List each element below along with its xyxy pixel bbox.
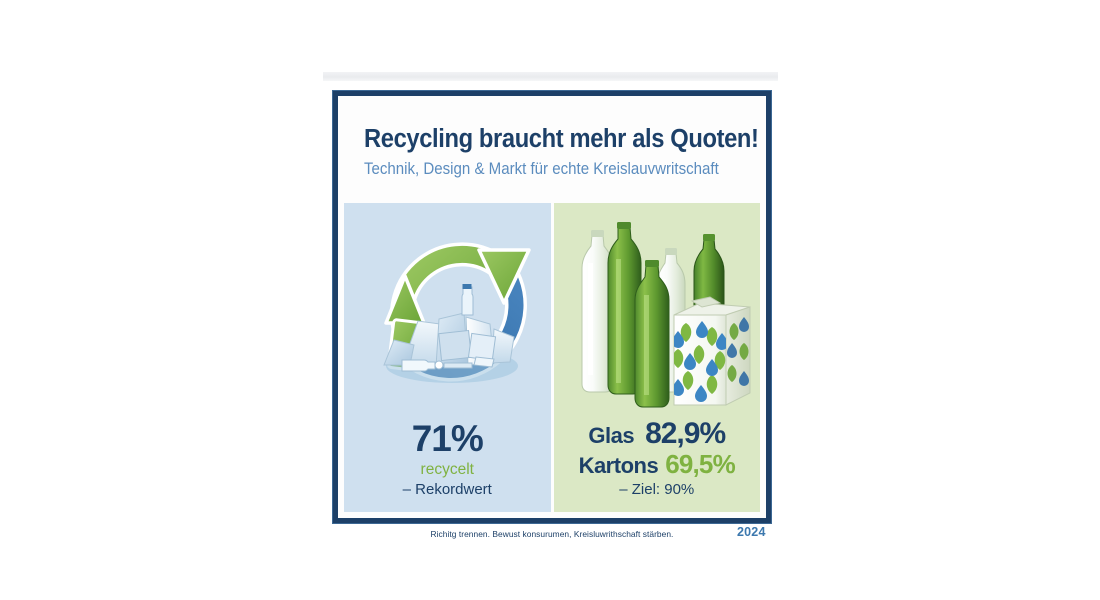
panel-glass-cartons: Glas 82,9% Kartons 69,5% – Ziel: 90% [554, 203, 761, 512]
recycling-loop-illustration [344, 203, 551, 415]
goal-note: – Ziel: 90% [554, 481, 761, 498]
poster-canvas: Recycling braucht mehr als Quoten! Techn… [0, 0, 1100, 600]
cartons-label: Kartons [579, 455, 659, 477]
page-title: Recycling braucht mehr als Quoten! [364, 125, 714, 153]
cartons-value: 69,5% [665, 451, 735, 477]
glass-value: 82,9% [645, 419, 725, 449]
glass-label: Glas [588, 425, 634, 447]
plastics-value: 71% [344, 420, 551, 457]
stat-row-glass: Glas 82,9% [554, 419, 761, 449]
bottles-carton-illustration [554, 203, 761, 415]
beverage-carton [672, 297, 750, 405]
plastics-label: recycelt [344, 461, 551, 478]
glass-carton-stats: Glas 82,9% Kartons 69,5% – Ziel: 90% [554, 419, 761, 498]
plastics-stats: 71% recycelt – Rekordwert [344, 420, 551, 498]
year-badge: 2024 [737, 525, 766, 539]
page-subtitle: Technik, Design & Markt für echte Kreisl… [364, 160, 714, 179]
footer-slogan: Richitg trennen. Bewust konsurumen, Krei… [333, 529, 771, 539]
panel-plastics: 71% recycelt – Rekordwert [344, 203, 551, 512]
infographic-card: Recycling braucht mehr als Quoten! Techn… [333, 91, 771, 523]
top-accent-strip [323, 72, 778, 81]
panels-container: 71% recycelt – Rekordwert [344, 203, 760, 512]
card-header: Recycling braucht mehr als Quoten! Techn… [338, 96, 766, 203]
plastics-note: – Rekordwert [344, 482, 551, 499]
stat-row-cartons: Kartons 69,5% [554, 451, 761, 477]
